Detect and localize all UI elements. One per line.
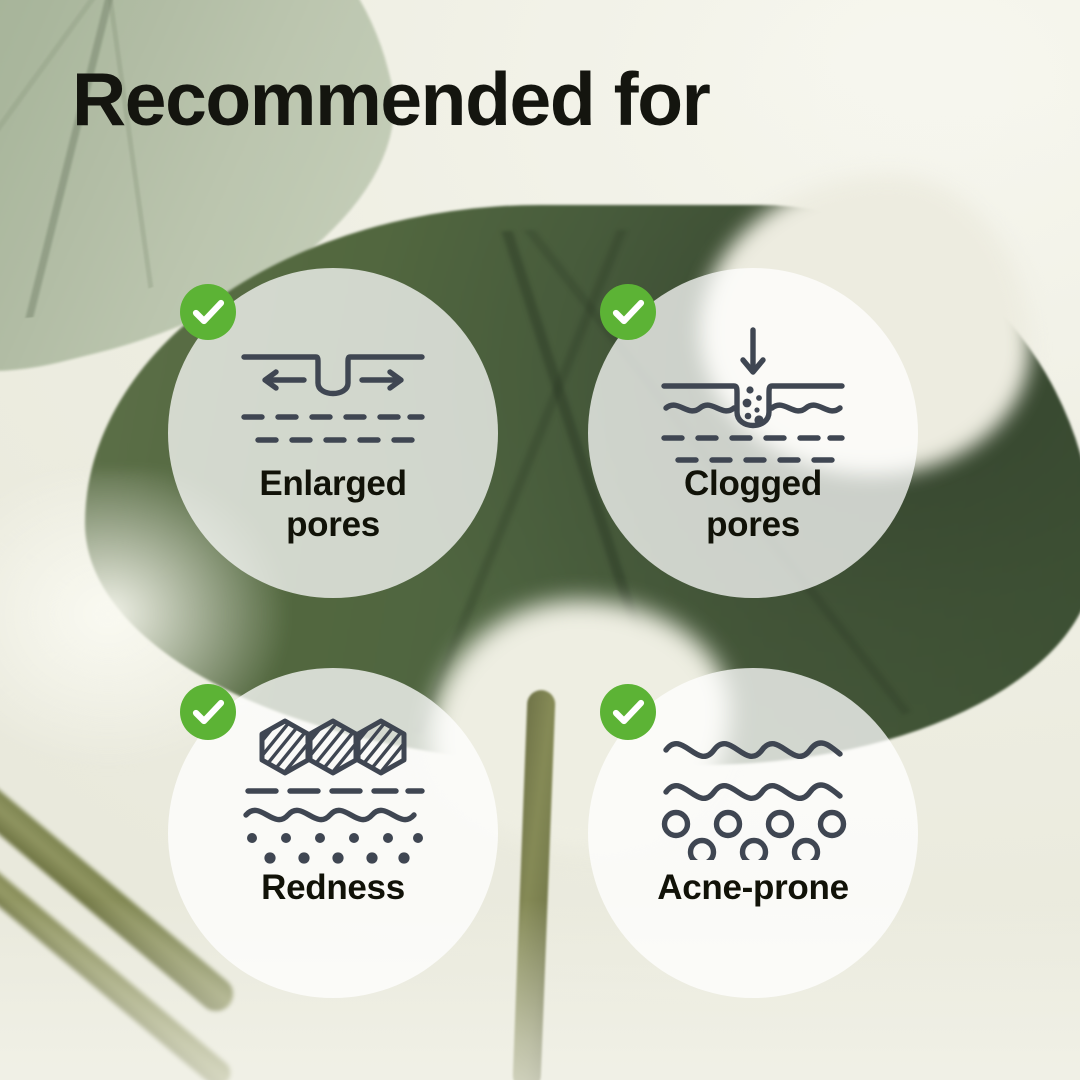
card-label: Clogged pores bbox=[588, 464, 918, 546]
card-acne-prone: Acne-prone bbox=[588, 668, 918, 998]
recommended-for-graphic: Recommended for bbox=[0, 0, 1080, 1080]
card-label: Acne-prone bbox=[588, 868, 918, 909]
background-photo bbox=[0, 0, 1080, 1080]
card-label: Enlarged pores bbox=[168, 464, 498, 546]
card-label: Redness bbox=[168, 868, 498, 909]
card-label-line2: pores bbox=[168, 505, 498, 546]
card-label-line1: Clogged bbox=[588, 464, 918, 505]
enlarged-pore-icon bbox=[168, 320, 498, 470]
card-redness: Redness bbox=[168, 668, 498, 998]
check-icon bbox=[600, 284, 656, 340]
card-enlarged-pores: Enlarged pores bbox=[168, 268, 498, 598]
card-clogged-pores: Clogged pores bbox=[588, 268, 918, 598]
card-label-line1: Enlarged bbox=[168, 464, 498, 505]
check-icon bbox=[180, 284, 236, 340]
check-icon bbox=[180, 684, 236, 740]
card-label-line1: Redness bbox=[168, 868, 498, 909]
card-label-line1: Acne-prone bbox=[588, 868, 918, 909]
clogged-pore-icon bbox=[588, 320, 918, 470]
background-fade-bottom bbox=[0, 900, 1080, 1080]
page-title: Recommended for bbox=[72, 62, 709, 137]
check-icon bbox=[600, 684, 656, 740]
card-label-line2: pores bbox=[588, 505, 918, 546]
